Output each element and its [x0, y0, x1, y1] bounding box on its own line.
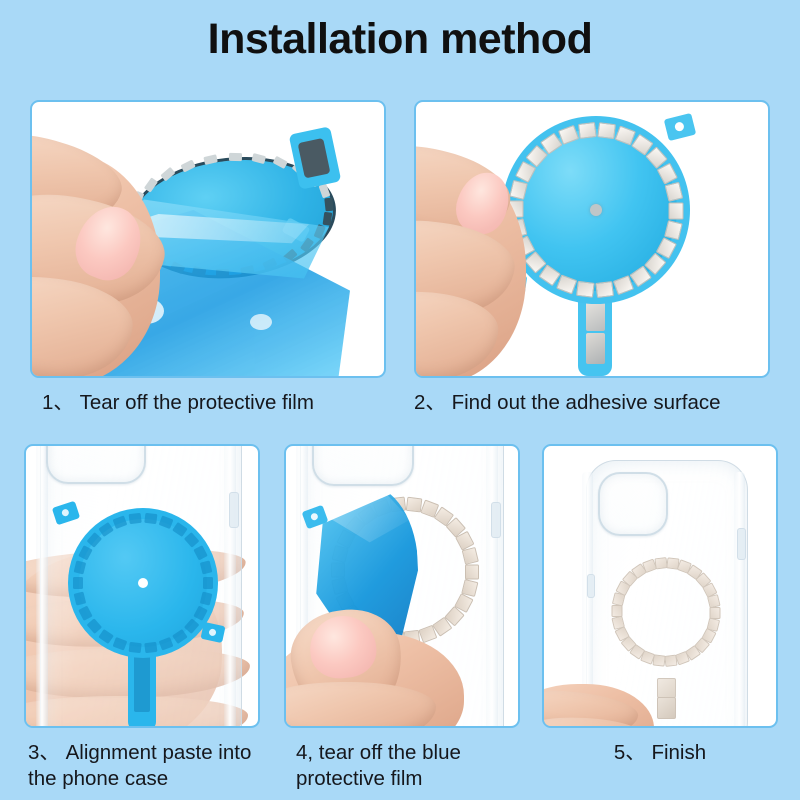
- step-3-caption: 3、 Alignment paste into the phone case: [28, 740, 264, 792]
- magnet-segment: [159, 515, 174, 529]
- magnet-segment: [184, 618, 199, 634]
- case-left-rail: [36, 446, 48, 726]
- magnet-segment: [193, 606, 207, 621]
- handle-magnet-2: [657, 697, 676, 719]
- tab-hole: [310, 512, 319, 521]
- magnet-segment: [144, 642, 157, 653]
- magnet-segment: [74, 592, 87, 606]
- magnet-segment: [707, 594, 721, 608]
- ring-center-hole: [138, 578, 148, 588]
- magnet-segment: [273, 156, 288, 169]
- magnet-segment: [184, 532, 199, 548]
- magnet-ring-blue: [68, 508, 218, 658]
- scene-peel-blue-film: [286, 446, 518, 726]
- step-4-image-panel: [284, 444, 520, 728]
- step-2-image-panel: [414, 100, 770, 378]
- magnet-segment: [611, 616, 625, 630]
- magnet-segment: [160, 167, 175, 182]
- magnet-segment: [665, 182, 684, 202]
- magnet-segment: [87, 618, 102, 634]
- step-1-image-panel: [30, 100, 386, 378]
- handle-magnet-1: [586, 300, 605, 331]
- step-1-caption: 1、 Tear off the protective film: [42, 390, 392, 416]
- magnet-segment: [664, 655, 677, 667]
- magnet-segment: [509, 180, 528, 200]
- magnet-segment: [576, 281, 595, 298]
- magnet-segment: [612, 605, 623, 617]
- tab-magnet: [298, 138, 331, 179]
- magnet-segment: [318, 184, 330, 199]
- magnet-segment: [87, 532, 102, 548]
- step-2-caption: 2、 Find out the adhesive surface: [414, 390, 774, 416]
- case-right-rail: [224, 446, 236, 726]
- magnet-segment: [465, 565, 479, 580]
- scene-finished-case: [544, 446, 776, 726]
- magnet-segment: [578, 122, 597, 139]
- magnet-segment: [181, 159, 196, 172]
- scene-find-adhesive-surface: [416, 102, 768, 376]
- film-dot-2: [250, 314, 272, 330]
- magnet-segment: [664, 220, 683, 240]
- page-title: Installation method: [0, 16, 800, 63]
- magnet-segment: [251, 153, 266, 164]
- magnet-segment: [98, 522, 114, 537]
- side-button-nub: [229, 492, 239, 528]
- case-right-rail: [734, 472, 745, 726]
- magnet-segment: [159, 637, 174, 651]
- ring-center-dot: [590, 204, 602, 216]
- magnet-segment: [172, 522, 188, 537]
- scene-tear-off-protective-film: [32, 102, 384, 376]
- magnet-segments: [610, 556, 722, 668]
- magnet-segment: [78, 606, 92, 621]
- case-right-rail: [486, 446, 498, 726]
- magnet-segment: [144, 178, 158, 193]
- camera-cutout: [46, 446, 146, 484]
- tab-hole: [61, 508, 70, 517]
- camera-cutout: [598, 472, 668, 536]
- magnet-segment: [204, 155, 218, 166]
- step-5-caption: 5、 Finish: [542, 740, 778, 766]
- scene-align-into-case: [26, 446, 258, 726]
- magnet-segment: [556, 274, 577, 294]
- magnet-segment: [229, 153, 242, 161]
- magnet-segment: [74, 560, 87, 574]
- magnet-segment: [322, 211, 332, 225]
- magnet-segment: [558, 125, 579, 145]
- magnet-segment: [200, 592, 213, 606]
- magnet-segment: [129, 513, 142, 524]
- magnet-segment: [669, 203, 684, 220]
- magnet-segment: [462, 547, 479, 565]
- handle-magnet-area: [134, 652, 150, 712]
- ear-hole: [208, 628, 216, 636]
- magnet-segment: [200, 560, 213, 574]
- volume-button-nub: [587, 574, 595, 598]
- magnet-segment: [595, 281, 614, 298]
- step-4-caption: 4, tear off the blue protective film: [296, 740, 520, 792]
- side-button-nub: [737, 528, 746, 560]
- side-button-nub: [491, 502, 501, 538]
- magnet-segment: [144, 513, 157, 524]
- magnet-segment: [193, 545, 207, 560]
- magnet-segment: [597, 122, 616, 139]
- magnet-segment: [203, 577, 213, 589]
- film-dot-3: [314, 254, 334, 269]
- magnet-segment: [73, 577, 83, 589]
- camera-cutout: [312, 446, 414, 486]
- magnet-segment: [129, 642, 142, 653]
- step-3-image-panel: [24, 444, 260, 728]
- magnet-ring: [502, 116, 690, 304]
- handle-magnet-1: [657, 678, 676, 698]
- magnet-segment: [113, 637, 128, 651]
- magnet-segment: [78, 545, 92, 560]
- magnet-segment: [113, 515, 128, 529]
- magnet-segment: [324, 198, 333, 212]
- magnet-segment: [172, 629, 188, 644]
- handle-magnet-2: [586, 333, 605, 364]
- magnet-segment: [98, 629, 114, 644]
- step-5-image-panel: [542, 444, 778, 728]
- magnet-ring-installed: [610, 556, 722, 668]
- installation-infographic: Installation method: [0, 0, 800, 800]
- tab-hole: [674, 121, 685, 132]
